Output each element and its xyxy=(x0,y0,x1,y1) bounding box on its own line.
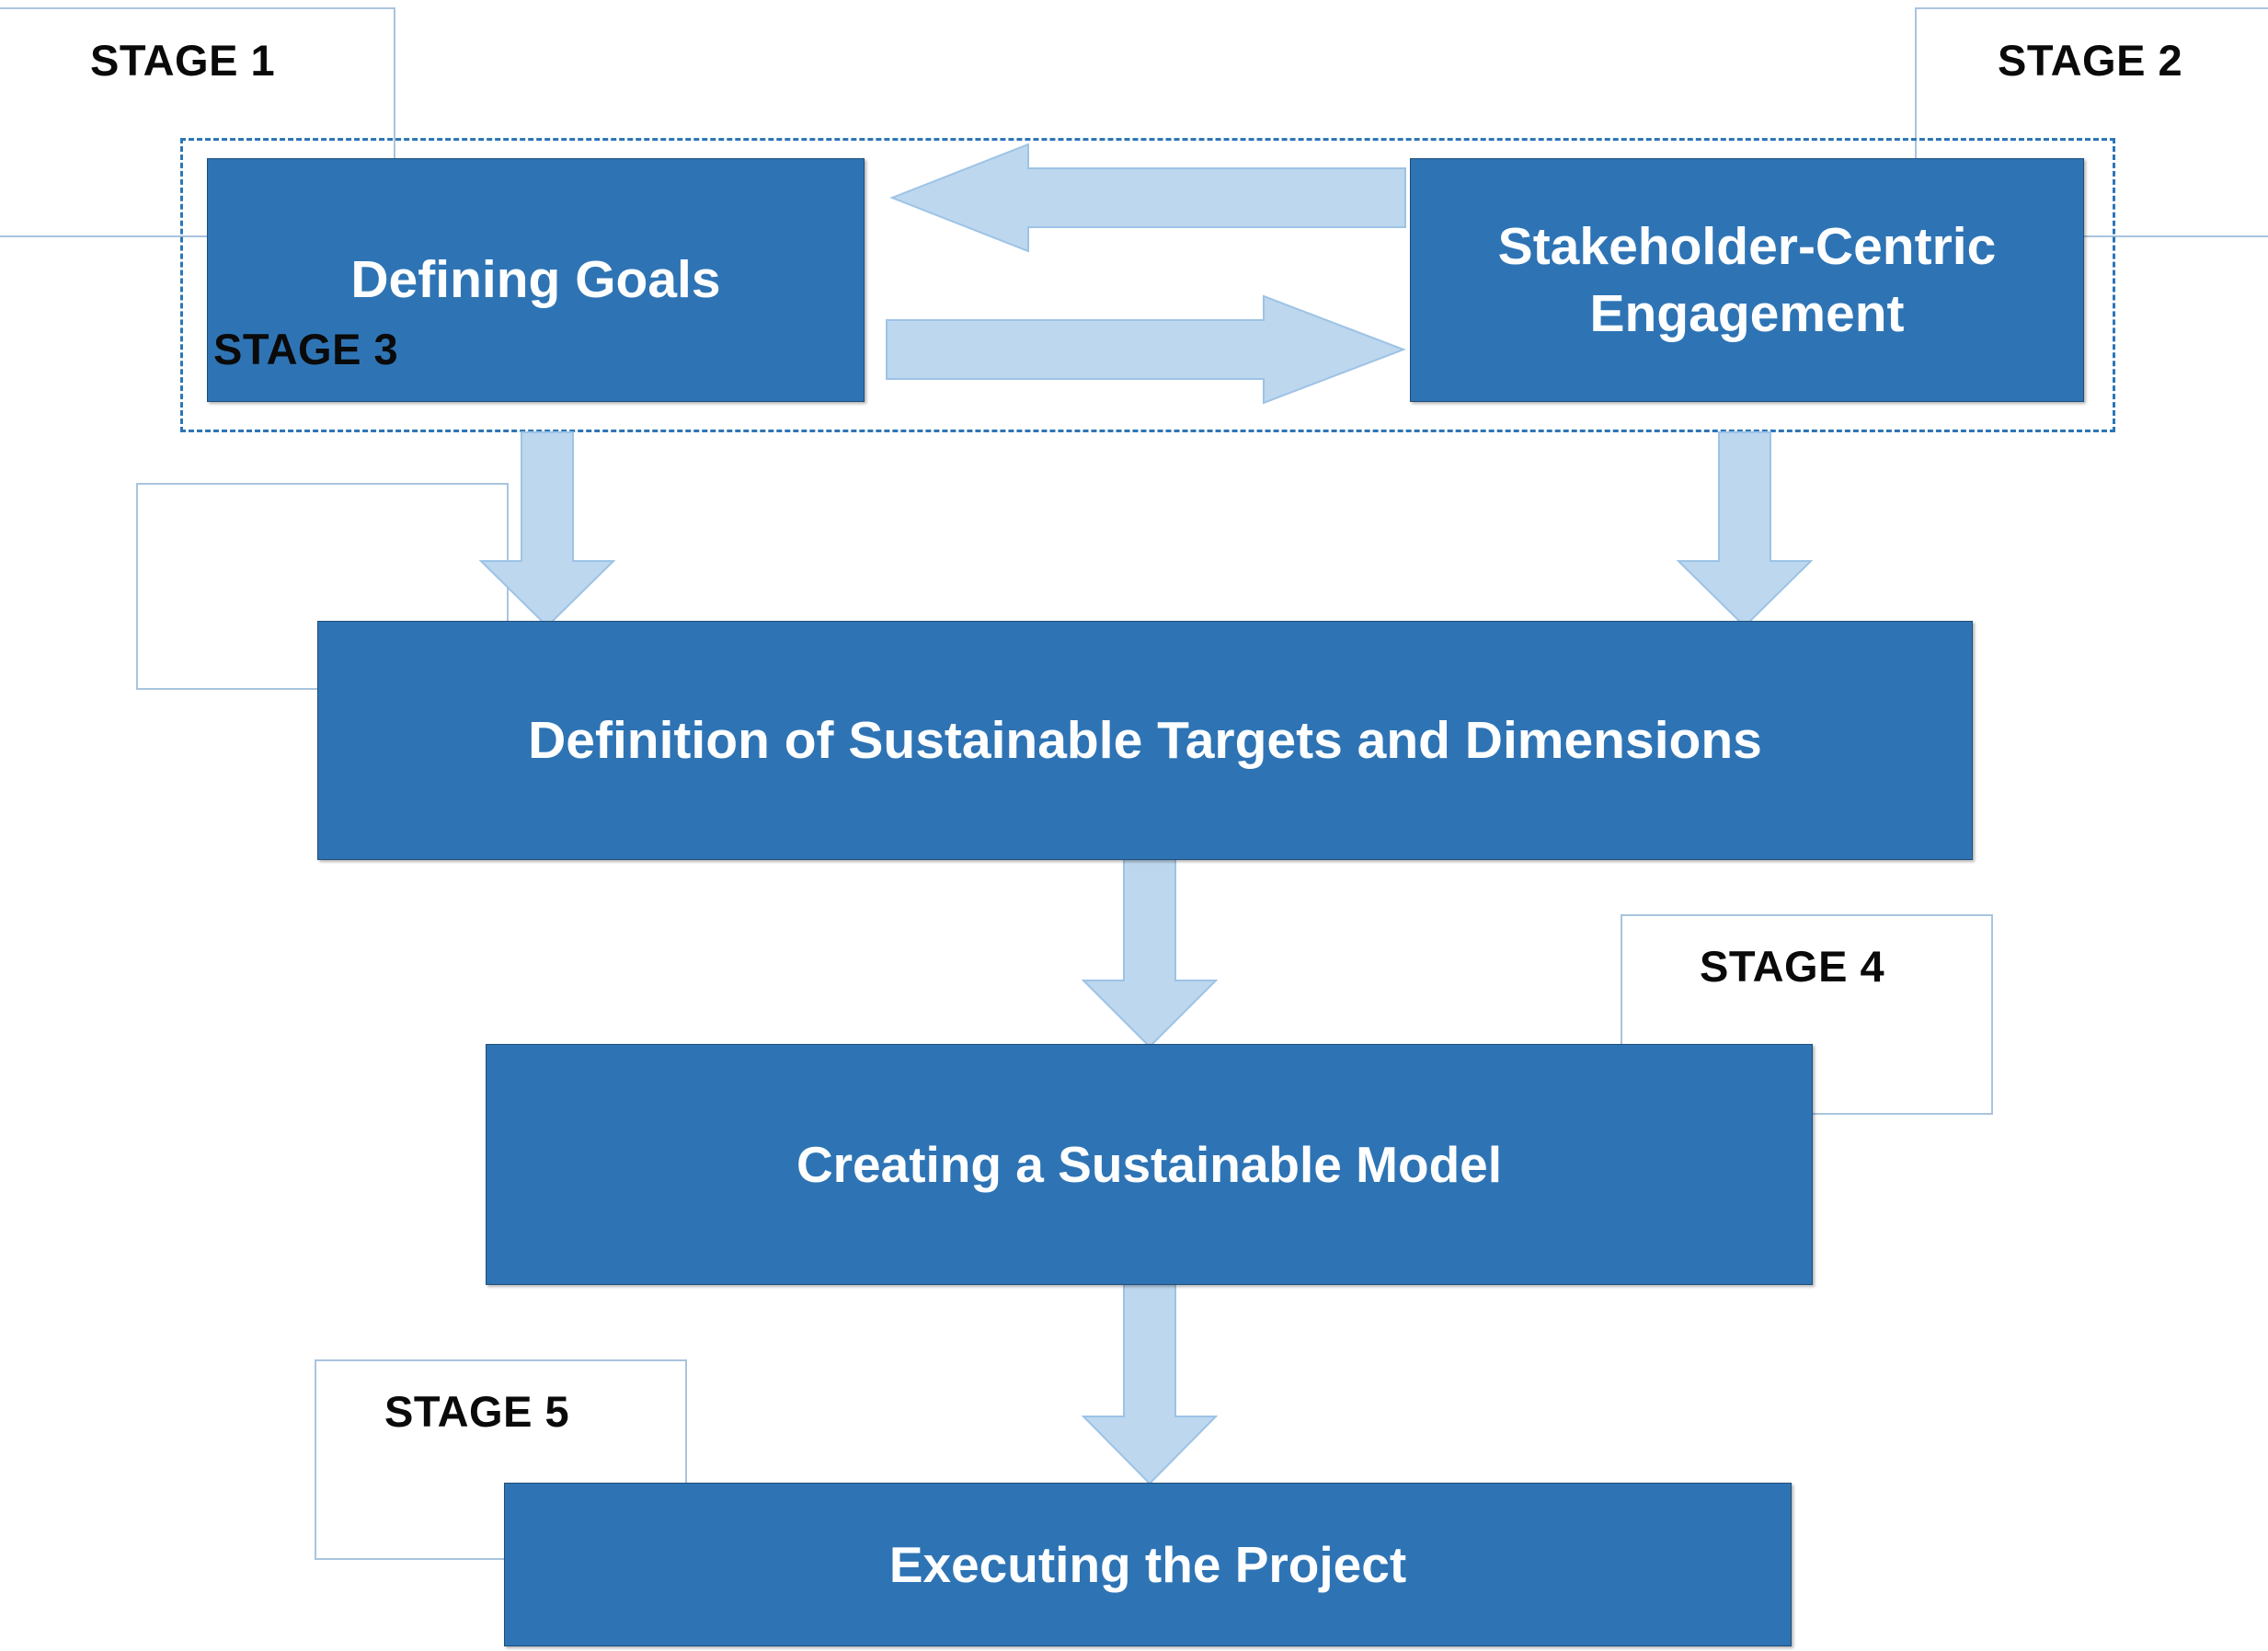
arrow-goals-to-targets xyxy=(478,430,616,628)
stage-3-label: STAGE 3 xyxy=(213,324,398,374)
node-sustainable-targets-label: Definition of Sustainable Targets and Di… xyxy=(511,707,1779,774)
stage-1-label: STAGE 1 xyxy=(90,35,275,86)
arrow-stakeholder-to-targets xyxy=(1676,430,1814,628)
node-executing-project[interactable]: Executing the Project xyxy=(504,1483,1792,1646)
stage-2-label: STAGE 2 xyxy=(1998,35,2182,86)
node-stakeholder-engagement-label: Stakeholder-Centric Engagement xyxy=(1411,213,2083,348)
node-sustainable-model-label: Creating a Sustainable Model xyxy=(780,1132,1518,1197)
arrow-goals-to-stakeholder xyxy=(885,294,1405,405)
flowchart-diagram: Defining Goals Stakeholder-Centric Engag… xyxy=(0,0,2268,1651)
node-sustainable-targets[interactable]: Definition of Sustainable Targets and Di… xyxy=(317,621,1973,860)
arrow-stakeholder-to-goals xyxy=(890,143,1405,253)
node-sustainable-model[interactable]: Creating a Sustainable Model xyxy=(486,1044,1813,1285)
node-defining-goals-label: Defining Goals xyxy=(334,247,737,314)
stage-5-label: STAGE 5 xyxy=(384,1386,569,1437)
stage-4-label: STAGE 4 xyxy=(1700,941,1884,992)
node-stakeholder-engagement[interactable]: Stakeholder-Centric Engagement xyxy=(1410,158,2084,402)
arrow-targets-to-model xyxy=(1081,855,1219,1049)
arrow-model-to-executing xyxy=(1081,1278,1219,1485)
node-executing-project-label: Executing the Project xyxy=(873,1532,1423,1597)
